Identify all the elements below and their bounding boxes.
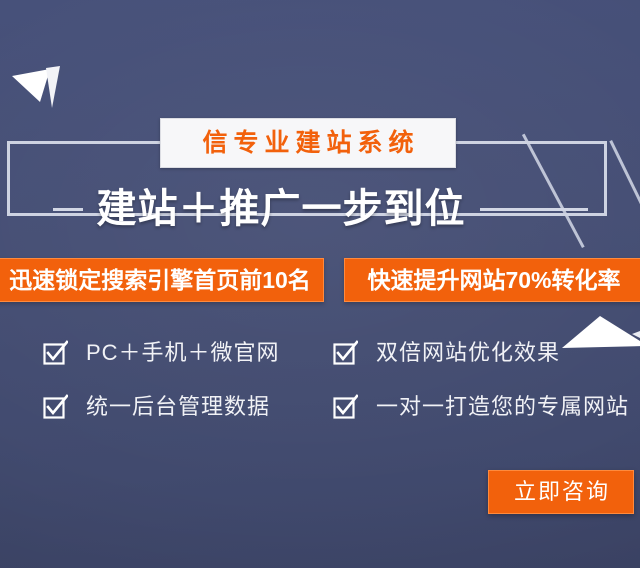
consult-now-label: 立即咨询 — [512, 481, 610, 503]
feature-list: PC＋手机＋微官网 双倍网站优化效果 统一后台管理数据 一对一打造您的专属网站 — [0, 330, 640, 436]
promo-bar-group: 迅速锁定搜索引擎首页前10名 快速提升网站70%转化率 — [0, 258, 640, 304]
check-box-icon — [332, 394, 358, 420]
check-box-icon — [42, 394, 68, 420]
promo-bar-text: 快速提升网站70%转化率 — [367, 269, 620, 292]
headline-row: 建站＋推广一步到位 — [0, 178, 640, 240]
feature-item: 统一后台管理数据 — [42, 386, 270, 428]
consult-now-button[interactable]: 立即咨询 — [488, 470, 634, 514]
feature-item: PC＋手机＋微官网 — [42, 332, 280, 374]
check-box-icon — [42, 340, 68, 366]
headline-rule-right — [480, 208, 588, 211]
page-title: 建站＋推广一步到位 — [97, 189, 466, 229]
promo-bar: 快速提升网站70%转化率 — [344, 258, 640, 302]
feature-item: 双倍网站优化效果 — [332, 332, 560, 374]
feature-label: PC＋手机＋微官网 — [86, 342, 280, 364]
eyebrow-label: 信专业建站系统 — [160, 118, 456, 168]
feature-label: 双倍网站优化效果 — [376, 342, 560, 364]
feature-item: 一对一打造您的专属网站 — [332, 386, 629, 428]
headline-rule-left — [53, 208, 83, 211]
promo-banner: 信专业建站系统 建站＋推广一步到位 迅速锁定搜索引擎首页前10名 快速提升网站7… — [0, 0, 640, 568]
eyebrow-text: 信专业建站系统 — [196, 131, 419, 156]
promo-bar: 迅速锁定搜索引擎首页前10名 — [0, 258, 324, 302]
paper-plane-icon — [10, 58, 86, 116]
promo-bar-text: 迅速锁定搜索引擎首页前10名 — [9, 269, 311, 292]
feature-label: 一对一打造您的专属网站 — [376, 396, 629, 418]
feature-label: 统一后台管理数据 — [86, 396, 270, 418]
check-box-icon — [332, 340, 358, 366]
